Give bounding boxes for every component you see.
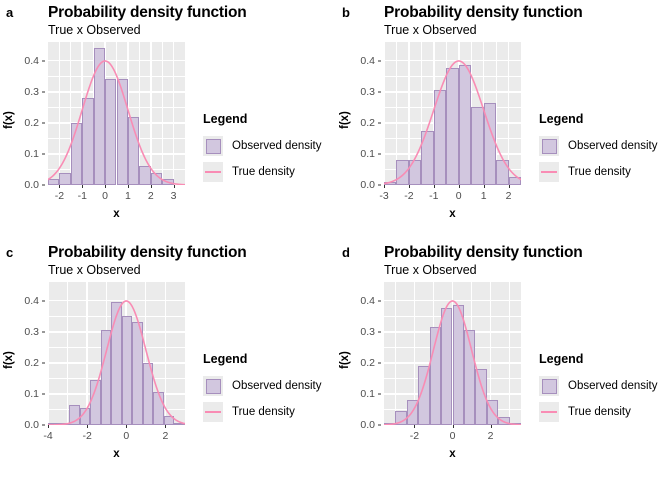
x-tick-mark bbox=[459, 185, 460, 188]
x-tick-label: 1 bbox=[125, 190, 131, 202]
y-tick-mark bbox=[42, 185, 45, 186]
x-tick-label: -2 bbox=[55, 190, 64, 202]
x-tick-mark bbox=[491, 425, 492, 428]
y-tick-label: 0.4 bbox=[360, 55, 375, 67]
y-tick-label: 0.3 bbox=[24, 326, 39, 338]
y-tick-mark bbox=[378, 153, 381, 154]
y-tick-mark bbox=[378, 362, 381, 363]
y-tick-mark bbox=[378, 91, 381, 92]
y-tick-label: 0.2 bbox=[24, 357, 39, 369]
legend-key-background bbox=[539, 136, 559, 156]
y-tick-mark bbox=[378, 122, 381, 123]
y-tick-label: 0.1 bbox=[360, 388, 375, 400]
x-tick-mark bbox=[453, 425, 454, 428]
square-swatch-icon bbox=[542, 139, 557, 154]
legend-item[interactable]: Observed density bbox=[536, 373, 670, 399]
x-axis-ticks: -202 bbox=[384, 425, 521, 447]
square-swatch-icon bbox=[542, 379, 557, 394]
line-swatch-icon bbox=[541, 171, 557, 173]
legend-item-label: Observed density bbox=[568, 380, 658, 392]
y-tick-mark bbox=[378, 425, 381, 426]
legend-item-label: True density bbox=[568, 166, 631, 178]
x-axis-ticks: -3-2-1012 bbox=[384, 185, 521, 207]
y-axis-ticks: 0.00.10.20.30.4 bbox=[14, 282, 45, 425]
chart-title: Probability density function bbox=[48, 4, 247, 22]
panel-tag-d: d bbox=[342, 246, 350, 260]
x-tick-label: -1 bbox=[429, 190, 438, 202]
legend-key-background bbox=[203, 136, 223, 156]
x-axis-ticks: -2-10123 bbox=[48, 185, 185, 207]
line-swatch-icon bbox=[541, 411, 557, 413]
legend-title: Legend bbox=[539, 112, 670, 126]
chart-title: Probability density function bbox=[384, 4, 583, 22]
y-axis-ticks: 0.00.10.20.30.4 bbox=[14, 42, 45, 185]
true-density-curve bbox=[48, 42, 185, 185]
panel-tag-b: b bbox=[342, 6, 350, 20]
legend-item-label: True density bbox=[232, 166, 295, 178]
y-tick-label: 0.2 bbox=[360, 357, 375, 369]
y-tick-label: 0.3 bbox=[360, 86, 375, 98]
legend-key-background bbox=[203, 402, 223, 422]
x-tick-label: 2 bbox=[488, 430, 494, 442]
y-tick-mark bbox=[42, 122, 45, 123]
y-tick-label: 0.3 bbox=[24, 86, 39, 98]
panel-tag-c: c bbox=[6, 246, 13, 260]
legend-title: Legend bbox=[203, 112, 334, 126]
x-tick-label: 0 bbox=[123, 430, 129, 442]
x-axis-ticks: -4-202 bbox=[48, 425, 185, 447]
x-tick-label: -3 bbox=[379, 190, 388, 202]
x-tick-mark bbox=[409, 185, 410, 188]
legend-title: Legend bbox=[203, 352, 334, 366]
legend: LegendObserved densityTrue density bbox=[200, 352, 334, 425]
x-tick-mark bbox=[87, 425, 88, 428]
y-tick-mark bbox=[378, 60, 381, 61]
x-axis-label: x bbox=[384, 448, 521, 460]
y-tick-mark bbox=[378, 331, 381, 332]
y-tick-label: 0.4 bbox=[24, 55, 39, 67]
x-tick-label: 0 bbox=[456, 190, 462, 202]
x-tick-mark bbox=[174, 185, 175, 188]
y-tick-mark bbox=[42, 331, 45, 332]
legend: LegendObserved densityTrue density bbox=[536, 352, 670, 425]
legend-item[interactable]: Observed density bbox=[200, 133, 334, 159]
legend-title: Legend bbox=[539, 352, 670, 366]
panel-tag-a: a bbox=[6, 6, 13, 20]
line-swatch-icon bbox=[205, 171, 221, 173]
chart-panel-c: cProbability density functionTrue x Obse… bbox=[0, 240, 336, 480]
legend-item[interactable]: True density bbox=[536, 399, 670, 425]
x-tick-mark bbox=[414, 425, 415, 428]
legend-key-background bbox=[539, 402, 559, 422]
x-tick-label: 1 bbox=[481, 190, 487, 202]
legend: LegendObserved densityTrue density bbox=[200, 112, 334, 185]
x-tick-mark bbox=[509, 185, 510, 188]
square-swatch-icon bbox=[206, 139, 221, 154]
chart-subtitle: True x Observed bbox=[384, 263, 477, 277]
line-swatch-icon bbox=[205, 411, 221, 413]
legend-item[interactable]: True density bbox=[200, 399, 334, 425]
x-tick-label: -2 bbox=[82, 430, 91, 442]
x-tick-mark bbox=[151, 185, 152, 188]
y-tick-label: 0.4 bbox=[360, 295, 375, 307]
y-tick-mark bbox=[42, 60, 45, 61]
legend-key-background bbox=[539, 376, 559, 396]
legend-key-background bbox=[203, 162, 223, 182]
y-tick-label: 0.3 bbox=[360, 326, 375, 338]
plot-area: f(x)0.00.10.20.30.4-3-2-1012xLegendObser… bbox=[336, 42, 536, 240]
y-tick-mark bbox=[42, 91, 45, 92]
x-tick-mark bbox=[82, 185, 83, 188]
plot-area: f(x)0.00.10.20.30.4-202xLegendObserved d… bbox=[336, 282, 536, 480]
legend-item[interactable]: Observed density bbox=[536, 133, 670, 159]
legend-item-label: Observed density bbox=[232, 380, 322, 392]
x-tick-mark bbox=[484, 185, 485, 188]
x-tick-label: -1 bbox=[78, 190, 87, 202]
x-tick-label: 0 bbox=[450, 430, 456, 442]
plot-area: f(x)0.00.10.20.30.4-2-10123xLegendObserv… bbox=[0, 42, 200, 240]
legend-item-label: True density bbox=[232, 406, 295, 418]
y-tick-label: 0.4 bbox=[24, 295, 39, 307]
chart-subtitle: True x Observed bbox=[48, 263, 141, 277]
chart-title: Probability density function bbox=[384, 244, 583, 262]
legend-item-label: Observed density bbox=[232, 140, 322, 152]
plot-canvas bbox=[48, 282, 185, 425]
chart-title: Probability density function bbox=[48, 244, 247, 262]
plot-canvas bbox=[48, 42, 185, 185]
x-tick-mark bbox=[165, 425, 166, 428]
x-tick-label: 0 bbox=[102, 190, 108, 202]
legend-item[interactable]: Observed density bbox=[200, 373, 334, 399]
chart-subtitle: True x Observed bbox=[48, 23, 141, 37]
true-density-curve bbox=[384, 42, 521, 185]
y-tick-label: 0.1 bbox=[24, 148, 39, 160]
legend-key-background bbox=[539, 162, 559, 182]
x-tick-mark bbox=[59, 185, 60, 188]
y-tick-mark bbox=[378, 393, 381, 394]
figure-grid: aProbability density functionTrue x Obse… bbox=[0, 0, 672, 480]
y-tick-label: 0.0 bbox=[24, 419, 39, 431]
square-swatch-icon bbox=[206, 379, 221, 394]
y-tick-mark bbox=[42, 393, 45, 394]
plot-area: f(x)0.00.10.20.30.4-4-202xLegendObserved… bbox=[0, 282, 200, 480]
legend: LegendObserved densityTrue density bbox=[536, 112, 670, 185]
y-tick-mark bbox=[42, 362, 45, 363]
x-axis-label: x bbox=[384, 208, 521, 220]
plot-canvas bbox=[384, 282, 521, 425]
legend-key-background bbox=[203, 376, 223, 396]
x-tick-label: -2 bbox=[410, 430, 419, 442]
y-tick-mark bbox=[42, 425, 45, 426]
y-tick-mark bbox=[42, 300, 45, 301]
legend-item[interactable]: True density bbox=[200, 159, 334, 185]
y-axis-ticks: 0.00.10.20.30.4 bbox=[350, 42, 381, 185]
x-tick-mark bbox=[126, 425, 127, 428]
x-tick-mark bbox=[434, 185, 435, 188]
x-axis-label: x bbox=[48, 208, 185, 220]
x-tick-label: 3 bbox=[171, 190, 177, 202]
chart-panel-a: aProbability density functionTrue x Obse… bbox=[0, 0, 336, 240]
y-tick-label: 0.0 bbox=[360, 419, 375, 431]
x-tick-label: 2 bbox=[506, 190, 512, 202]
y-axis-ticks: 0.00.10.20.30.4 bbox=[350, 282, 381, 425]
x-tick-mark bbox=[128, 185, 129, 188]
x-axis-label: x bbox=[48, 448, 185, 460]
x-tick-label: -4 bbox=[43, 430, 52, 442]
y-tick-label: 0.1 bbox=[24, 388, 39, 400]
legend-item-label: Observed density bbox=[568, 140, 658, 152]
true-density-curve bbox=[384, 282, 521, 425]
legend-item-label: True density bbox=[568, 406, 631, 418]
y-tick-mark bbox=[378, 185, 381, 186]
x-tick-label: -2 bbox=[404, 190, 413, 202]
x-tick-label: 2 bbox=[163, 430, 169, 442]
y-tick-label: 0.2 bbox=[360, 117, 375, 129]
x-tick-mark bbox=[105, 185, 106, 188]
chart-subtitle: True x Observed bbox=[384, 23, 477, 37]
y-tick-label: 0.2 bbox=[24, 117, 39, 129]
x-tick-mark bbox=[384, 185, 385, 188]
true-density-curve bbox=[48, 282, 185, 425]
chart-panel-d: dProbability density functionTrue x Obse… bbox=[336, 240, 672, 480]
legend-item[interactable]: True density bbox=[536, 159, 670, 185]
plot-canvas bbox=[384, 42, 521, 185]
y-tick-mark bbox=[378, 300, 381, 301]
chart-panel-b: bProbability density functionTrue x Obse… bbox=[336, 0, 672, 240]
x-tick-mark bbox=[48, 425, 49, 428]
y-tick-mark bbox=[42, 153, 45, 154]
x-tick-label: 2 bbox=[148, 190, 154, 202]
y-tick-label: 0.0 bbox=[24, 179, 39, 191]
y-tick-label: 0.0 bbox=[360, 179, 375, 191]
y-tick-label: 0.1 bbox=[360, 148, 375, 160]
